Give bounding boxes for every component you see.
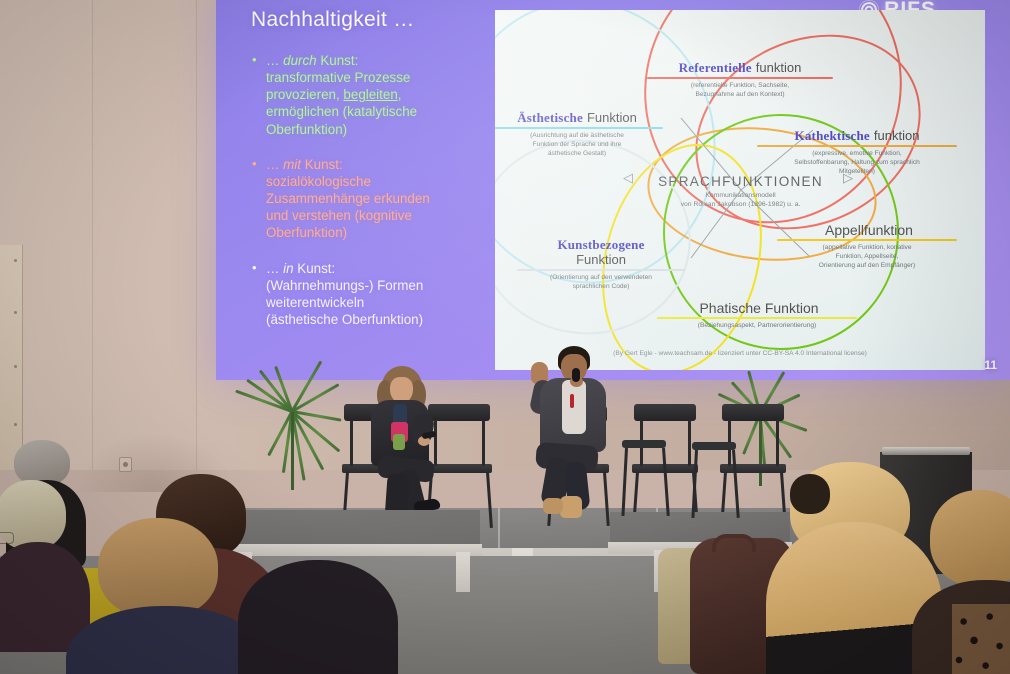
- wall-panel: [0, 245, 23, 470]
- diagram-node-kathektische: Kathektischefunktion (expressive, emotiv…: [757, 128, 957, 177]
- diagram-node-aesthetische: ÄsthetischeFunktion (Ausrichtung auf die…: [495, 110, 663, 159]
- stacked-chair: [690, 442, 738, 520]
- list-item: • … durch Kunst: transformative Prozesse…: [252, 52, 467, 138]
- arrow-left-icon: ◁: [623, 170, 633, 186]
- conference-photo: Nachhaltigkeit … RIFS • … durch Kunst: t…: [0, 0, 1010, 674]
- boot: [560, 496, 582, 518]
- diagram-node-referentielle: Referentiellefunktion (referentielle Fun…: [647, 60, 833, 100]
- shirt-green: [393, 434, 405, 450]
- leopard-pattern: [952, 604, 1010, 674]
- diagram-center-label: SPRACHFUNKTIONEN Kommunikationsmodell vo…: [638, 174, 843, 209]
- audience-person: [790, 474, 830, 520]
- projected-slide: Nachhaltigkeit … RIFS • … durch Kunst: t…: [216, 0, 1010, 380]
- table-leg: [456, 552, 470, 592]
- diagram-node-phatische: Phatische Funktion (Beziehungsaspekt, Pa…: [657, 300, 857, 331]
- backpack-handle: [712, 534, 756, 552]
- shirt: [562, 380, 586, 434]
- slide-page-number: 11: [984, 358, 997, 372]
- microphone-icon: [422, 431, 437, 440]
- potted-plant-left: [252, 382, 342, 502]
- jakobson-diagram: Referentiellefunktion (referentielle Fun…: [495, 10, 985, 370]
- boot: [543, 498, 563, 514]
- lanyard: [570, 394, 574, 408]
- arrow-right-icon: ▷: [843, 170, 853, 186]
- list-item: • … mit Kunst: sozialökologische Zusamme…: [252, 156, 467, 242]
- slide-bullet-list: • … durch Kunst: transformative Prozesse…: [252, 52, 467, 346]
- bullet-dot-icon: •: [252, 260, 266, 329]
- speaker-box-top: [882, 447, 970, 455]
- stacked-chair: [620, 440, 668, 518]
- audience-person: [0, 480, 86, 620]
- slide-title: Nachhaltigkeit …: [251, 8, 415, 32]
- audience-table-edge: [228, 544, 482, 556]
- speaker-left-moderator: [360, 366, 470, 528]
- eyeglasses-icon: [0, 532, 14, 544]
- list-item: • … in Kunst: (Wahrnehmungs-) Formen wei…: [252, 260, 467, 329]
- diagram-node-appellfunktion: Appellfunktion (appellative Funktion, ko…: [777, 222, 957, 271]
- audience-person: [88, 518, 238, 674]
- microphone-icon: [572, 368, 580, 382]
- diagram-node-kunstbezogene: Kunstbezogene Funktion (Orientierung auf…: [517, 238, 685, 292]
- bullet-dot-icon: •: [252, 156, 266, 242]
- audience-person: [238, 560, 398, 674]
- bullet-dot-icon: •: [252, 52, 266, 138]
